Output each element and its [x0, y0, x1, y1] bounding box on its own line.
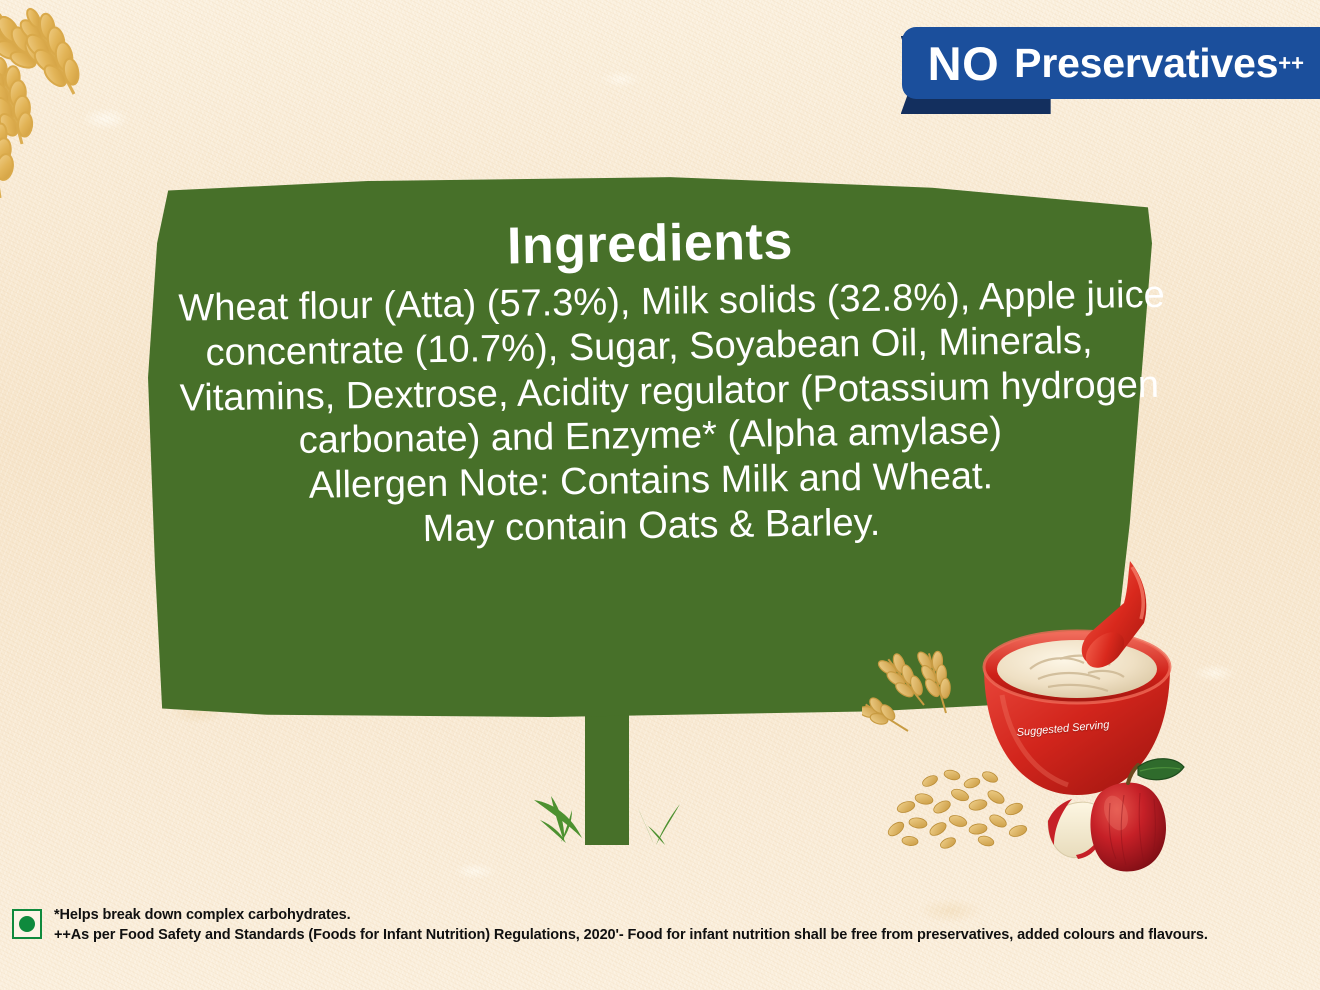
- no-preservatives-badge: NO Preservatives++: [902, 27, 1320, 99]
- vegetarian-dot: [19, 916, 35, 932]
- grass-tuft-left-icon: [528, 780, 598, 844]
- grass-tuft-right-icon: [634, 796, 686, 846]
- ingredients-heading: Ingredients: [507, 212, 794, 277]
- wheat-grains-pile: [886, 769, 1028, 851]
- badge-word-label: Preservatives: [1014, 40, 1278, 86]
- product-serving-photo: [862, 545, 1202, 875]
- vegetarian-mark-icon: [12, 909, 42, 939]
- footnote-regulation: ++As per Food Safety and Standards (Food…: [54, 927, 1208, 943]
- footnote-enzyme: *Helps break down complex carbohydrates.: [54, 907, 1208, 923]
- badge-word-group: Preservatives++: [1014, 43, 1304, 84]
- ingredients-text: Wheat flour (Atta) (57.3%), Milk solids …: [168, 273, 1132, 555]
- wheat-stalks-icon: [0, 0, 192, 201]
- footnotes-block: *Helps break down complex carbohydrates.…: [12, 906, 1208, 943]
- badge-superscript: ++: [1278, 50, 1304, 75]
- wheat-ears-decor: [862, 645, 959, 742]
- badge-panel: NO Preservatives++: [902, 27, 1320, 99]
- footnote-lines: *Helps break down complex carbohydrates.…: [54, 906, 1208, 943]
- badge-no-label: NO: [928, 40, 1000, 87]
- packaging-panel: NO Preservatives++ Ingredients Wheat flo…: [0, 0, 1320, 990]
